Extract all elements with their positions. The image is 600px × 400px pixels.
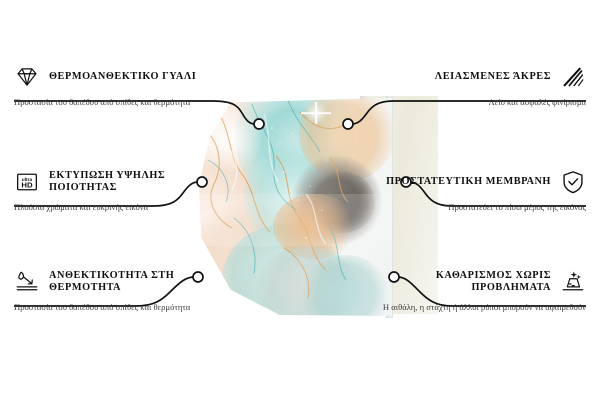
feature-heading: ΘΕΡΜΟΑΝΘΕΚΤΙΚΟ ΓΥΑΛΙ <box>14 64 219 90</box>
feature-heading: ΛΕΙΑΣΜΕΝΕΣ ΆΚΡΕΣ <box>381 64 586 90</box>
feature-heading: ΑΝΘΕΚΤΙΚΟΤΗΤΑ ΣΤΗ ΘΕΡΜΟΤΗΤΑ <box>14 269 219 295</box>
flame-deflect-icon <box>14 269 40 295</box>
sparkle-wipe-icon <box>560 269 586 295</box>
feature-title: ΠΡΟΣΤΑΤΕΥΤΙΚΗ ΜΕΜΒΡΑΝΗ <box>381 176 551 188</box>
diamond-icon <box>14 64 40 90</box>
ultra-hd-icon: ultra HD <box>14 169 40 195</box>
feature-title: ΚΑΘΑΡΙΣΜΟΣ ΧΩΡΙΣ ΠΡΟΒΛΗΜΑΤΑ <box>381 270 551 295</box>
feature-heading: ΚΑΘΑΡΙΣΜΟΣ ΧΩΡΙΣ ΠΡΟΒΛΗΜΑΤΑ <box>381 269 586 295</box>
feature-protective-membrane: ΠΡΟΣΤΑΤΕΥΤΙΚΗ ΜΕΜΒΡΑΝΗ Προστατεύει το πί… <box>381 169 586 213</box>
feature-heat-resistant-glass: ΘΕΡΜΟΑΝΘΕΚΤΙΚΟ ΓΥΑΛΙ Προστασία του δαπέδ… <box>14 64 219 108</box>
feature-description: Πλούσια χρώματα και ευκρινής εικόνα <box>14 202 219 213</box>
svg-text:HD: HD <box>21 181 33 190</box>
feature-polished-edges: ΛΕΙΑΣΜΕΝΕΣ ΆΚΡΕΣ Λείο και ασφαλές φινίρι… <box>381 64 586 108</box>
feature-title: ΕΚΤΥΠΩΣΗ ΥΨΗΛΗΣ ΠΟΙΟΤΗΤΑΣ <box>49 170 219 195</box>
feature-description: Προστασία του δαπέδου από σπίθες και θερ… <box>14 97 219 108</box>
feature-title: ΘΕΡΜΟΑΝΘΕΚΤΙΚΟ ΓΥΑΛΙ <box>49 71 219 83</box>
feature-description: Προστασία του δαπέδου από σπίθες και θερ… <box>14 302 219 313</box>
feature-description: Λείο και ασφαλές φινίρισμα <box>381 97 586 108</box>
shield-check-icon <box>560 169 586 195</box>
feature-heading: ΠΡΟΣΤΑΤΕΥΤΙΚΗ ΜΕΜΒΡΑΝΗ <box>381 169 586 195</box>
feature-heading: ultra HD ΕΚΤΥΠΩΣΗ ΥΨΗΛΗΣ ΠΟΙΟΤΗΤΑΣ <box>14 169 219 195</box>
feature-high-quality-print: ultra HD ΕΚΤΥΠΩΣΗ ΥΨΗΛΗΣ ΠΟΙΟΤΗΤΑΣ Πλούσ… <box>14 169 219 213</box>
feature-title: ΛΕΙΑΣΜΕΝΕΣ ΆΚΡΕΣ <box>381 71 551 83</box>
feature-description: Η αιθάλη, η στάχτη ή άλλοι ρύποι μπορούν… <box>381 302 586 313</box>
infographic-canvas: ΘΕΡΜΟΑΝΘΕΚΤΙΚΟ ΓΥΑΛΙ Προστασία του δαπέδ… <box>0 0 600 400</box>
feature-easy-cleaning: ΚΑΘΑΡΙΣΜΟΣ ΧΩΡΙΣ ΠΡΟΒΛΗΜΑΤΑ Η αιθάλη, η … <box>381 269 586 313</box>
feature-description: Προστατεύει το πίσω μέρος της εικόνας <box>381 202 586 213</box>
feature-heat-durability: ΑΝΘΕΚΤΙΚΟΤΗΤΑ ΣΤΗ ΘΕΡΜΟΤΗΤΑ Προστασία το… <box>14 269 219 313</box>
feature-title: ΑΝΘΕΚΤΙΚΟΤΗΤΑ ΣΤΗ ΘΕΡΜΟΤΗΤΑ <box>49 270 219 295</box>
diagonal-stripes-icon <box>560 64 586 90</box>
